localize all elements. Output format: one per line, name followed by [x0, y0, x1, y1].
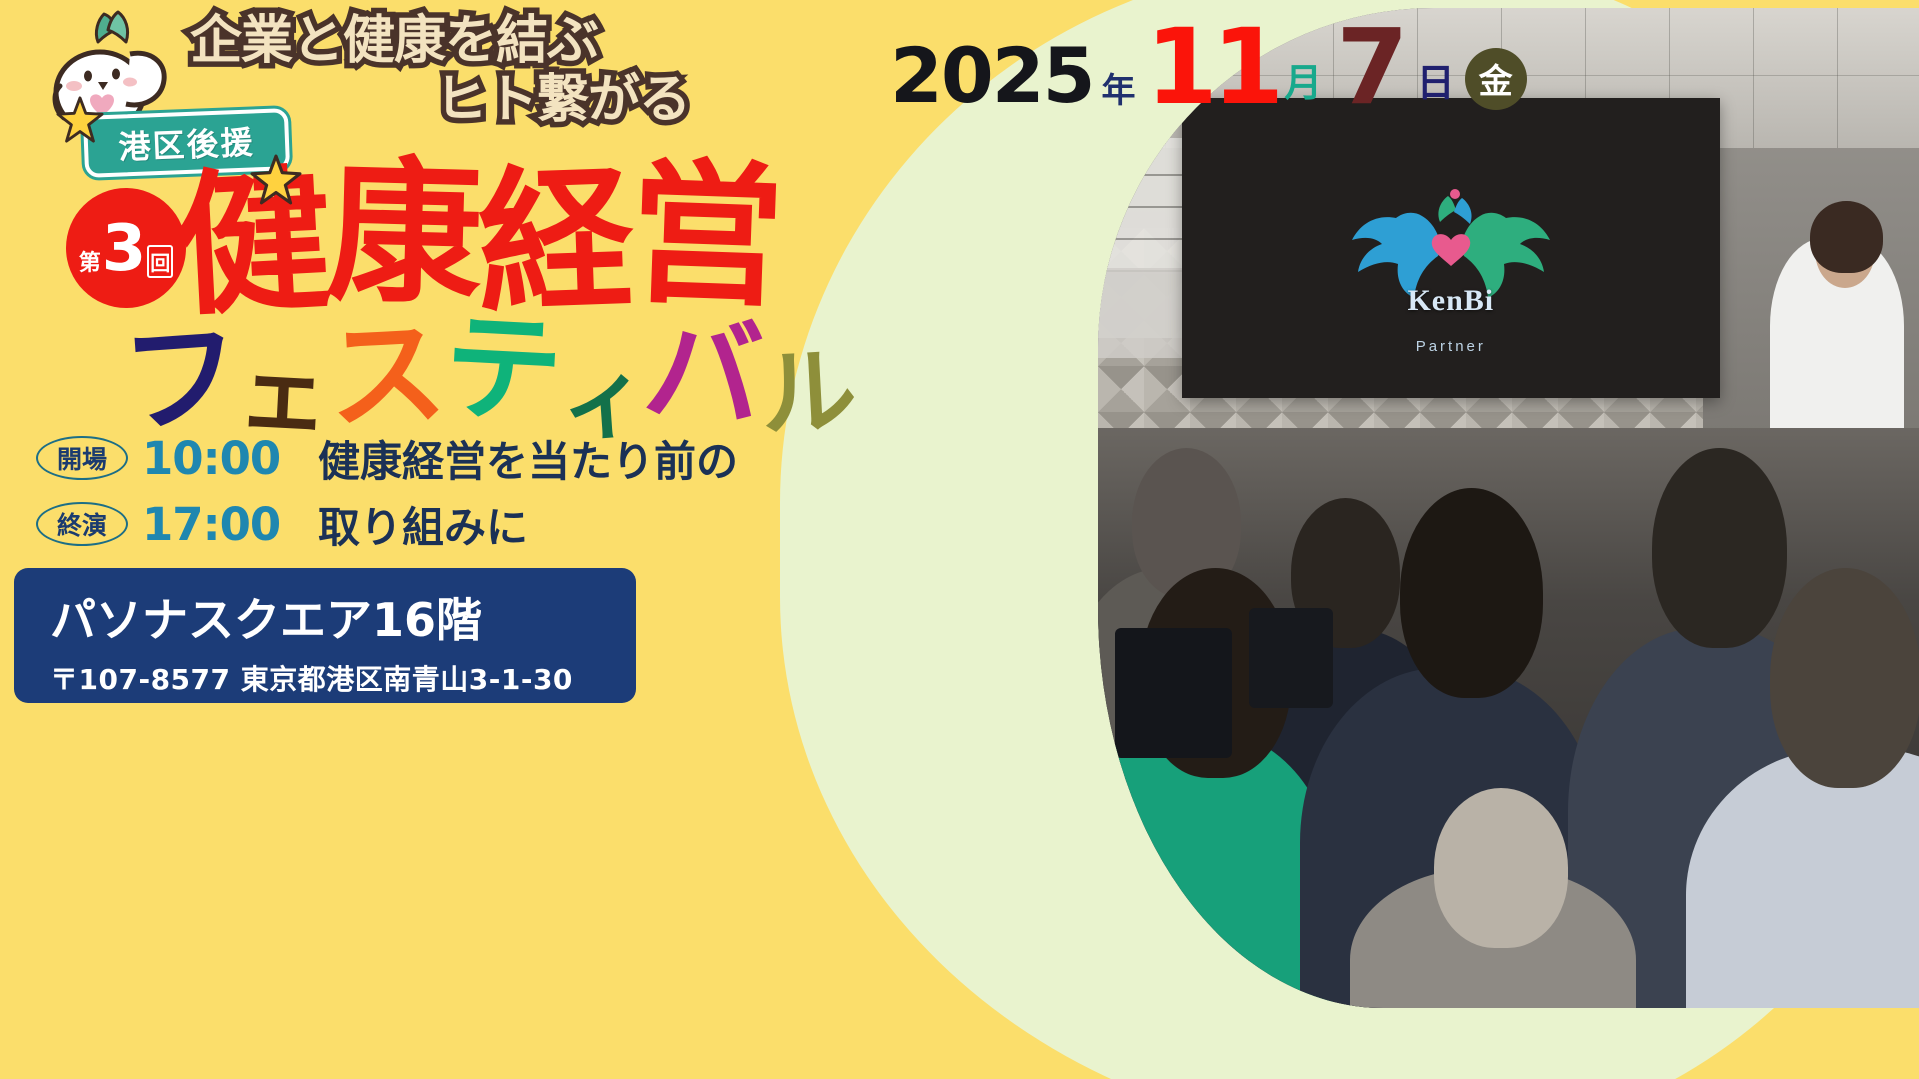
event-poster: KenBi Partner [0, 0, 1919, 1079]
subtitle-char: ル [758, 343, 857, 444]
schedule-label: 終演 [36, 502, 128, 546]
audience-member [1434, 788, 1568, 948]
photo-chair [1115, 628, 1233, 758]
star-icon [56, 96, 104, 144]
subtitle-char: テ [441, 307, 563, 431]
main-title-char: 経 [475, 161, 631, 321]
star-icon [250, 154, 302, 206]
venue-name: パソナスクエア16階 [50, 584, 608, 650]
venue-address: 〒107-8577 東京都港区南青山3-1-30 [50, 658, 608, 698]
main-title-char: 営 [626, 155, 782, 315]
date-day: 7 [1336, 22, 1408, 114]
tagline-line1: 企業と健康を結ぶ [190, 14, 750, 69]
screen-logo-sub: Partner [1416, 338, 1486, 355]
schedule-time: 17:00 [142, 498, 302, 551]
subtitle: フェスティバル [122, 316, 854, 434]
screen-logo-text: KenBi [1407, 284, 1494, 318]
event-date: 2025 年 11 月 7 日 金 [890, 22, 1527, 114]
photo-chair [1249, 608, 1333, 708]
photo-projection-screen: KenBi Partner [1182, 98, 1720, 398]
audience-member [1770, 568, 1919, 788]
audience-member [1652, 448, 1786, 648]
schedule-time: 10:00 [142, 432, 302, 485]
subtitle-char: バ [640, 310, 764, 436]
audience-member [1400, 488, 1543, 698]
schedule-row: 終演 17:00 取り組みに [36, 498, 738, 550]
date-year-unit: 年 [1102, 74, 1136, 108]
main-title-char: 康 [325, 154, 480, 313]
date-month-unit: 月 [1284, 64, 1322, 102]
photo-speaker-hair [1810, 201, 1882, 273]
edition-suffix: 回 [147, 245, 173, 278]
edition-prefix: 第 [79, 245, 101, 277]
date-year: 2025 [890, 38, 1094, 114]
conference-photo: KenBi Partner [1098, 8, 1919, 1008]
subtitle-char: フ [118, 316, 242, 442]
date-weekday-badge: 金 [1465, 48, 1527, 110]
edition-badge: 第 3 回 [66, 188, 186, 308]
schedule-description: 取り組みに [318, 494, 528, 555]
date-month: 11 [1146, 22, 1279, 114]
poster-left-content: 企業と健康を結ぶ ヒト繋がる 港区後援 第 3 回 健康経営 フェス [0, 0, 1000, 1079]
edition-number: 3 [102, 222, 147, 276]
schedule-row: 開場 10:00 健康経営を当たり前の [36, 432, 738, 484]
subtitle-char: ェ [235, 347, 330, 444]
schedule-label: 開場 [36, 436, 128, 480]
schedule-description: 健康経営を当たり前の [318, 428, 738, 489]
schedule: 開場 10:00 健康経営を当たり前の 終演 17:00 取り組みに [36, 432, 738, 564]
subtitle-char: ス [325, 313, 447, 437]
venue-box: パソナスクエア16階 〒107-8577 東京都港区南青山3-1-30 [14, 568, 636, 703]
date-day-unit: 日 [1417, 64, 1455, 102]
